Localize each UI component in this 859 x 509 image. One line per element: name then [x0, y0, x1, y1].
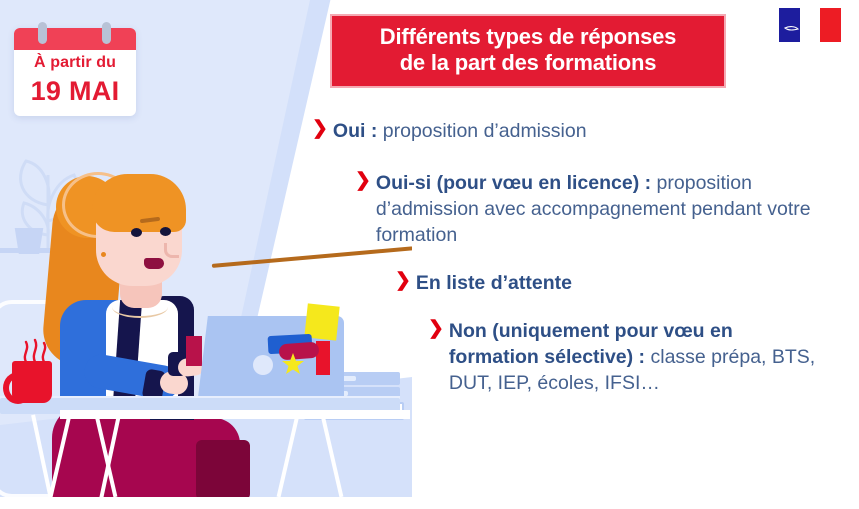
- bottom-strip: [0, 497, 859, 509]
- hair-top: [92, 174, 186, 232]
- steam-icon: [20, 336, 50, 362]
- sticky-tab: [186, 336, 202, 366]
- list-item-text: Oui : proposition d’admission: [333, 118, 587, 144]
- lips: [144, 258, 164, 269]
- circle-sticker: [253, 355, 273, 375]
- calendar-ring: [102, 22, 111, 44]
- calendar-ring: [38, 22, 47, 44]
- leg-lower: [196, 440, 250, 497]
- nose: [164, 243, 179, 258]
- chevron-right-icon: ❯: [312, 118, 328, 140]
- chevron-right-icon: ❯: [355, 170, 371, 192]
- desk-edge: [60, 410, 410, 419]
- earring: [101, 252, 106, 257]
- list-item-text: Oui-si (pour vœu en licence) : propositi…: [376, 170, 835, 248]
- list-item-text: Non (uniquement pour vœu en formation sé…: [449, 318, 818, 396]
- list-item-non: ❯ Non (uniquement pour vœu en formation …: [428, 318, 818, 396]
- title-banner: Différents types de réponses de la part …: [330, 14, 726, 88]
- list-item-bold: En liste d’attente: [416, 272, 572, 294]
- title-line-2: de la part des formations: [338, 50, 718, 76]
- infographic-slide: À partir du 19 MAI Différents types de r…: [0, 0, 859, 509]
- calendar-line-2: 19 MAI: [14, 76, 136, 107]
- coffee-mug: [12, 361, 52, 403]
- necklace: [112, 296, 168, 318]
- chevron-right-icon: ❯: [428, 318, 444, 340]
- list-item-bold: Oui-si (pour vœu en licence) :: [376, 172, 651, 194]
- calendar-header: [14, 28, 136, 50]
- marianne-profile-icon: [779, 8, 841, 42]
- list-item-text: En liste d’attente: [416, 270, 572, 296]
- list-item-oui: ❯ Oui : proposition d’admission: [312, 118, 845, 144]
- calendar-badge: À partir du 19 MAI: [14, 28, 136, 116]
- eye: [160, 227, 171, 236]
- list-item-bold: Oui :: [333, 120, 377, 142]
- chevron-right-icon: ❯: [395, 270, 411, 292]
- eye: [131, 228, 142, 237]
- marianne-logo: [779, 8, 841, 42]
- title-line-1: Différents types de réponses: [338, 24, 718, 50]
- list-item-liste-attente: ❯ En liste d’attente: [395, 270, 845, 296]
- list-item-regular: proposition d’admission: [377, 120, 586, 142]
- calendar-line-1: À partir du: [14, 54, 136, 72]
- response-types-list: ❯ Oui : proposition d’admission ❯ Oui-si…: [300, 118, 845, 396]
- list-item-oui-si: ❯ Oui-si (pour vœu en licence) : proposi…: [355, 170, 835, 248]
